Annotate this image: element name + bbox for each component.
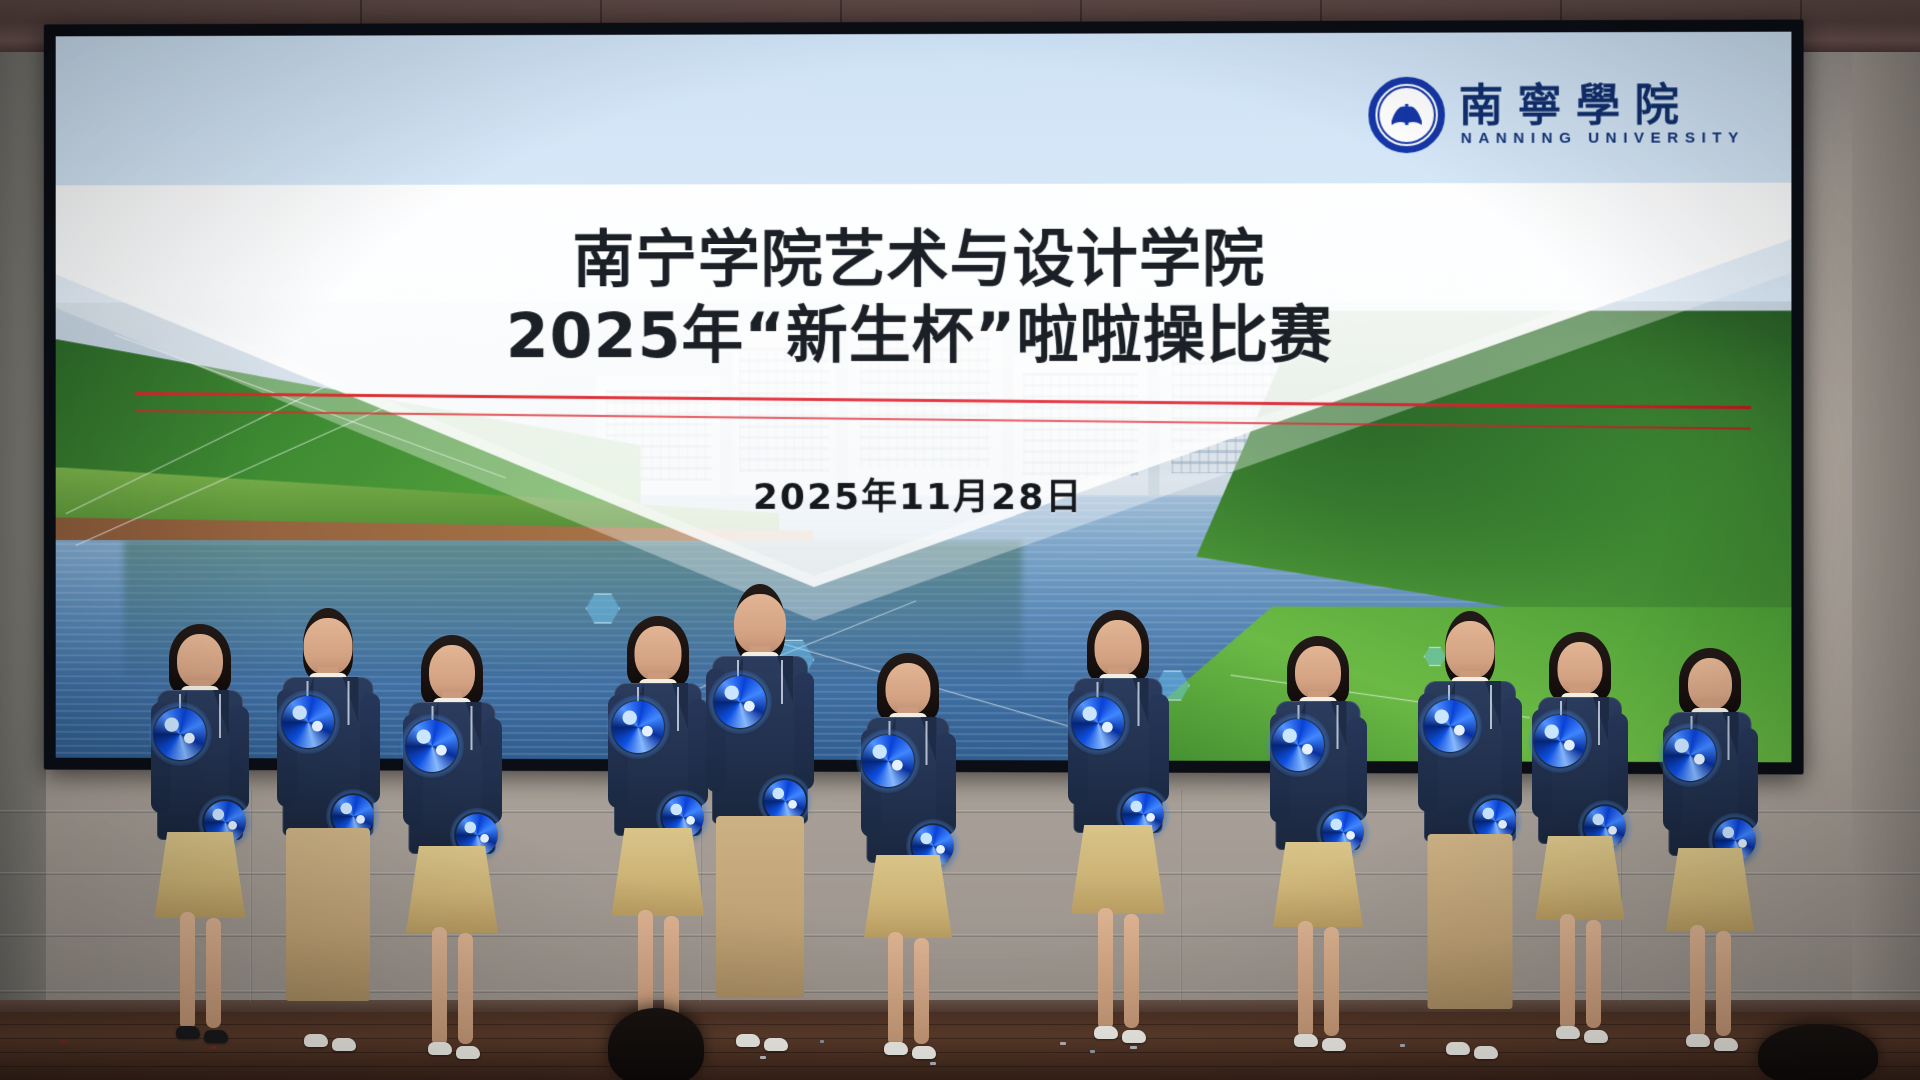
- leg: [888, 932, 903, 1046]
- stage-scene: 南寧學院 NANNING UNIVERSITY 南宁学院艺术与设计学院 2025…: [0, 0, 1920, 1080]
- arm-right: [794, 672, 814, 790]
- performer-9: [1410, 617, 1530, 1056]
- performer-1: [140, 630, 260, 1040]
- blazer-lapel-right: [1593, 697, 1609, 743]
- performer-10: [1520, 638, 1640, 1040]
- leg: [1098, 908, 1113, 1030]
- university-logo: 南寧學院 NANNING UNIVERSITY: [1368, 76, 1745, 153]
- pom-pom: [1072, 697, 1124, 749]
- wall-panel-left: [0, 52, 46, 1012]
- uniform-skirt: [612, 828, 705, 916]
- performer-2: [268, 614, 388, 1048]
- confetti-piece: [60, 1040, 68, 1043]
- blazer-lapel-right: [1485, 681, 1501, 727]
- performer-3: [392, 641, 512, 1056]
- slide-title-line-2: 2025年“新生杯”啦啦操比赛: [56, 297, 1792, 373]
- leg: [1586, 920, 1601, 1028]
- leg: [206, 918, 221, 1028]
- leg: [180, 912, 195, 1030]
- head: [734, 594, 786, 654]
- leg: [432, 927, 447, 1046]
- logo-text: 南寧學院 NANNING UNIVERSITY: [1459, 84, 1745, 146]
- blazer-lapel-right: [672, 683, 688, 729]
- shoe: [1094, 1026, 1118, 1039]
- leg: [458, 933, 473, 1044]
- blazer-lapel-right: [777, 656, 793, 702]
- shoe: [332, 1038, 356, 1051]
- confetti-piece: [210, 1046, 216, 1049]
- leg: [1716, 931, 1731, 1036]
- performer-11: [1650, 654, 1770, 1048]
- pom-pom: [714, 676, 766, 728]
- uniform-pants: [1428, 834, 1513, 1009]
- shoe: [764, 1038, 788, 1051]
- confetti-piece: [1400, 1044, 1405, 1047]
- pom-pom: [154, 708, 206, 760]
- confetti-piece: [930, 1062, 936, 1065]
- confetti-piece: [760, 1056, 766, 1059]
- shoe: [1322, 1038, 1346, 1051]
- arm-right: [482, 718, 502, 824]
- confetti-piece: [1130, 1046, 1137, 1049]
- leg: [914, 938, 929, 1044]
- shoe: [1122, 1030, 1146, 1043]
- slide-title: 南宁学院艺术与设计学院 2025年“新生杯”啦啦操比赛: [56, 221, 1792, 374]
- shoe: [1474, 1046, 1498, 1059]
- performer-6: [848, 659, 968, 1056]
- confetti-piece: [1090, 1050, 1095, 1053]
- pom-pom: [1424, 700, 1476, 752]
- audience-member-head: [608, 1008, 704, 1080]
- arm-right: [360, 693, 380, 804]
- shoe: [1294, 1034, 1318, 1047]
- pom-pom: [612, 701, 664, 753]
- shoe: [304, 1034, 328, 1047]
- pom-pom: [862, 735, 914, 787]
- logo-english-name: NANNING UNIVERSITY: [1459, 130, 1745, 146]
- nanning-university-emblem-icon: [1368, 77, 1445, 153]
- slide-date: 2025年11月28日: [56, 468, 1792, 521]
- shoe: [428, 1042, 452, 1055]
- shoe: [1556, 1026, 1580, 1039]
- blazer-lapel-right: [213, 690, 229, 736]
- shoe: [1686, 1034, 1710, 1047]
- uniform-skirt: [864, 855, 952, 938]
- uniform-skirt: [406, 846, 498, 933]
- leg: [1560, 914, 1575, 1030]
- shoe: [1446, 1042, 1470, 1055]
- audience-member-head: [1758, 1024, 1878, 1080]
- blazer-lapel-right: [343, 677, 359, 723]
- wall-panel-right: [1852, 52, 1920, 1012]
- uniform-skirt: [1273, 842, 1363, 927]
- arm-right: [1149, 694, 1169, 803]
- pom-pom: [406, 720, 458, 772]
- uniform-skirt: [1666, 848, 1754, 931]
- logo-chinese-name: 南寧學院: [1459, 84, 1745, 129]
- uniform-pants: [716, 816, 804, 998]
- uniform-skirt: [1071, 825, 1165, 914]
- leg: [1324, 927, 1339, 1036]
- shoe: [176, 1026, 200, 1039]
- pom-pom: [1664, 729, 1716, 781]
- performer-5: [700, 590, 820, 1048]
- shoe: [456, 1046, 480, 1059]
- shoe: [736, 1034, 760, 1047]
- divider-rule-top: [135, 392, 1751, 409]
- pom-pom: [1272, 719, 1324, 771]
- shoe: [912, 1046, 936, 1059]
- blazer-lapel-right: [920, 717, 936, 763]
- confetti-piece: [1060, 1042, 1066, 1045]
- shoe: [1714, 1038, 1738, 1051]
- uniform-pants: [286, 828, 370, 1001]
- confetti-piece: [820, 1040, 824, 1043]
- blazer-lapel-right: [1722, 712, 1738, 758]
- slide-title-line-1: 南宁学院艺术与设计学院: [56, 221, 1792, 298]
- leg: [1298, 921, 1313, 1038]
- leg: [1690, 925, 1705, 1038]
- floor-plank: [0, 1066, 1920, 1067]
- blazer-lapel-right: [1132, 678, 1148, 724]
- wall-seam: [1180, 790, 1182, 1002]
- performer-7: [1058, 616, 1178, 1040]
- shoe: [204, 1030, 228, 1043]
- pom-pom: [1534, 715, 1586, 767]
- arm-right: [1502, 697, 1522, 810]
- performer-8: [1258, 642, 1378, 1048]
- leg: [1124, 914, 1139, 1028]
- uniform-skirt: [1536, 836, 1625, 920]
- pom-pom: [282, 696, 334, 748]
- uniform-skirt: [155, 832, 246, 918]
- blazer-lapel-right: [1331, 701, 1347, 747]
- shoe: [1584, 1030, 1608, 1043]
- shoe: [884, 1042, 908, 1055]
- title-divider-rules: [135, 386, 1751, 422]
- blazer-lapel-right: [466, 702, 482, 748]
